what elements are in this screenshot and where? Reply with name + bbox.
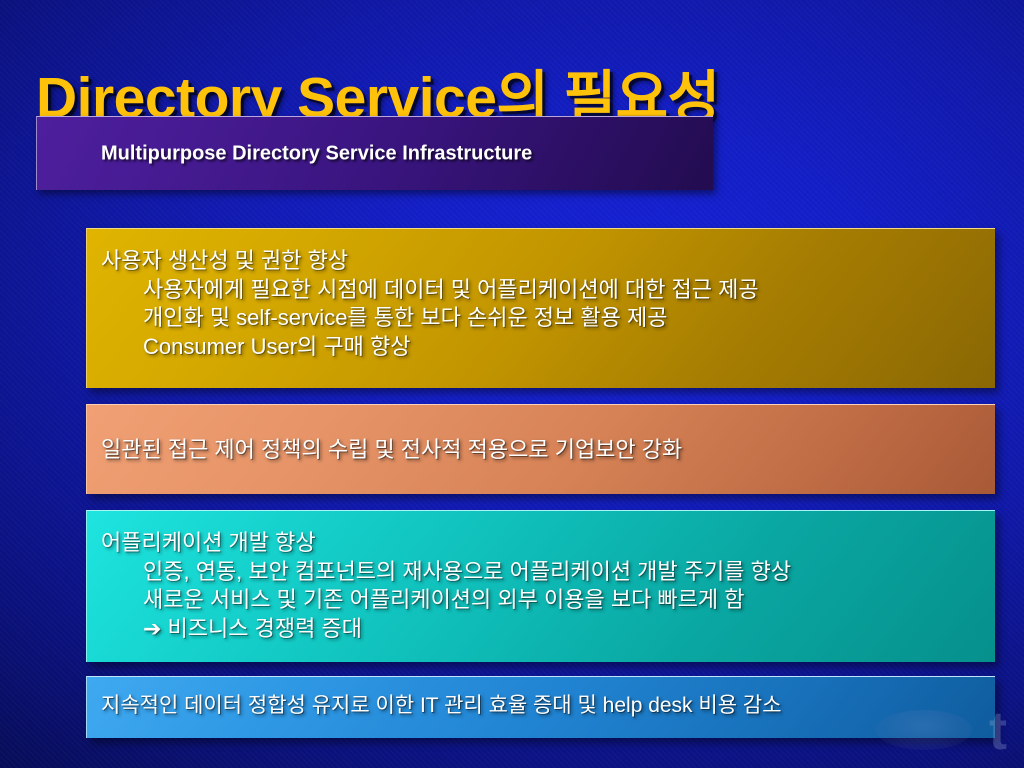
content-line: ➔ 비즈니스 경쟁력 증대 — [101, 615, 981, 644]
content-box-security: 일관된 접근 제어 정책의 수립 및 전사적 적용으로 기업보안 강화 — [86, 404, 995, 494]
presentation-slide: Directory Service의 필요성 Multipurpose Dire… — [0, 0, 1024, 768]
content-line: 사용자에게 필요한 시점에 데이터 및 어플리케이션에 대한 접근 제공 — [101, 276, 981, 305]
header-banner-label: Multipurpose Directory Service Infrastru… — [101, 142, 532, 165]
content-box-it-efficiency: 지속적인 데이터 정합성 유지로 이한 IT 관리 효율 증대 및 help d… — [86, 676, 995, 738]
header-banner-box: Multipurpose Directory Service Infrastru… — [36, 116, 713, 190]
content-line: 새로운 서비스 및 기존 어플리케이션의 외부 이용을 보다 빠르게 함 — [101, 586, 981, 615]
content-box-user-productivity: 사용자 생산성 및 권한 향상 사용자에게 필요한 시점에 데이터 및 어플리케… — [86, 228, 995, 388]
content-line: Consumer User의 구매 향상 — [101, 333, 981, 362]
content-line: 개인화 및 self-service를 통한 보다 손쉬운 정보 활용 제공 — [101, 304, 981, 333]
content-line: 사용자 생산성 및 권한 향상 — [101, 247, 981, 276]
content-line: 어플리케이션 개발 향상 — [101, 529, 981, 558]
content-line: 인증, 연동, 보안 컴포넌트의 재사용으로 어플리케이션 개발 주기를 향상 — [101, 558, 981, 587]
content-line: 일관된 접근 제어 정책의 수립 및 전사적 적용으로 기업보안 강화 — [101, 436, 682, 465]
content-box-app-development: 어플리케이션 개발 향상 인증, 연동, 보안 컴포넌트의 재사용으로 어플리케… — [86, 510, 995, 662]
content-line: 지속적인 데이터 정합성 유지로 이한 IT 관리 효율 증대 및 help d… — [101, 692, 782, 719]
